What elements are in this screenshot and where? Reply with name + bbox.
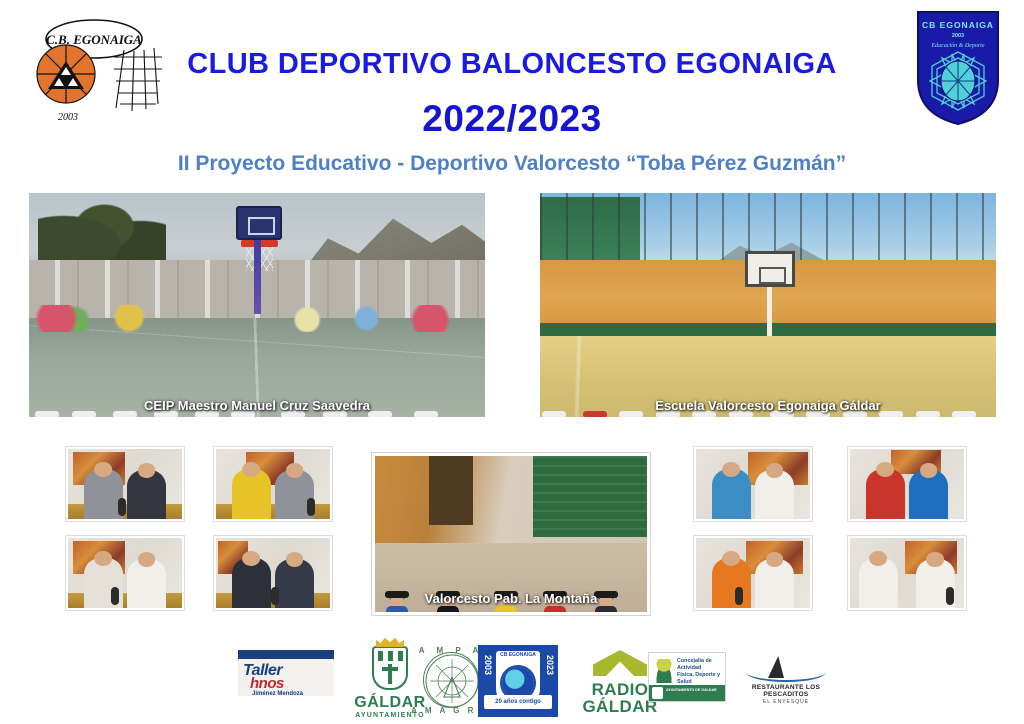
backboard-icon [236, 206, 282, 240]
microphone-icon [111, 587, 119, 605]
checker-band [378, 651, 404, 661]
photo-children-row [540, 289, 996, 412]
photo-ceip[interactable]: CEIP Maestro Manuel Cruz Saavedra [29, 193, 485, 417]
person-figure [859, 558, 898, 608]
crown-icon [376, 637, 404, 647]
person-figure [909, 470, 948, 519]
poster-header: C.B. EGONAIGA 2003 CB EGONAIGA 2003 Educ… [0, 0, 1024, 190]
sponsor-line-2: EL ENYESQUE [736, 699, 836, 705]
anniversary-ribbon: 20 años contigo [484, 695, 552, 709]
poster-canvas: C.B. EGONAIGA 2003 CB EGONAIGA 2003 Educ… [0, 0, 1024, 724]
sponsor-line-1: RESTAURANTE LOS PESCADITOS [736, 684, 836, 698]
sponsor-line-2: hnos [250, 675, 284, 692]
person-figure [755, 559, 794, 608]
microphone-icon [307, 498, 315, 516]
project-subtitle: II Proyecto Educativo - Deportivo Valorc… [0, 152, 1024, 176]
sponsor-badge-text: AYUNTAMIENTO DE GÁLDAR [666, 688, 717, 693]
photo-montana[interactable]: Valorcesto Pab. La Montaña [372, 453, 650, 615]
sponsor-taller-hnos[interactable]: Taller hnos Jiménez Mendoza [238, 638, 334, 724]
anniversary-year-right: 2023 [543, 655, 555, 675]
photo-escuela[interactable]: Escuela Valorcesto Egonaiga Gáldar [540, 193, 996, 417]
radio-photo-6[interactable] [848, 447, 966, 521]
galdar-crest-icon [652, 687, 663, 699]
person-figure [866, 469, 905, 519]
person-figure [275, 559, 314, 608]
svg-text:CB EGONAIGA: CB EGONAIGA [922, 20, 994, 30]
microphone-icon [946, 587, 954, 605]
ampa-circle-icon [423, 652, 479, 708]
fish-fin-wave-icon [746, 656, 826, 682]
svg-text:C.B. EGONAIGA: C.B. EGONAIGA [46, 32, 142, 47]
radio-chevron-icon [593, 650, 647, 676]
radio-photo-1[interactable] [66, 447, 184, 521]
microphone-icon [735, 587, 743, 605]
ampa-glyph [424, 653, 480, 709]
sponsor-strip: Taller hnos Jiménez Mendoza GÁLDAR AYUNT… [0, 638, 1024, 724]
radio-photo-4[interactable] [214, 536, 332, 610]
person-figure [127, 470, 166, 519]
person-figure [232, 469, 271, 519]
radio-photo-2[interactable] [214, 447, 332, 521]
microphone-icon [118, 498, 126, 516]
sponsor-cb-egonaiga-20-aniversario[interactable]: CB EGONAIGA 2003 2023 20 años contigo [478, 638, 558, 724]
anniversary-year-left: 2003 [481, 655, 493, 675]
sponsor-line-3: Jiménez Mendoza [252, 691, 303, 697]
person-figure [84, 469, 123, 519]
photo-boys-row [375, 503, 647, 593]
microphone-icon [271, 587, 279, 605]
page-title: CLUB DEPORTIVO BALONCESTO EGONAIGA [0, 48, 1024, 81]
season-label: 2022/2023 [0, 98, 1024, 140]
svg-text:2003: 2003 [952, 33, 964, 39]
anniversary-ribbon-text: 20 años contigo [484, 695, 552, 709]
sponsor-restaurante-los-pescaditos[interactable]: RESTAURANTE LOS PESCADITOS EL ENYESQUE [736, 638, 836, 724]
radio-photo-8[interactable] [848, 536, 966, 610]
radio-photo-5[interactable] [694, 447, 812, 521]
sponsor-concejalia[interactable]: Concejalía de Actividad Física, Deporte … [648, 638, 726, 724]
backboard-icon [745, 251, 795, 287]
photo-children-row [29, 274, 485, 413]
person-figure [232, 558, 271, 608]
sponsor-line-2: Física, Deporte y Salud [677, 672, 722, 686]
sponsor-line-1: Concejalía de Actividad [677, 658, 722, 672]
radio-photo-3[interactable] [66, 536, 184, 610]
radio-photo-7[interactable] [694, 536, 812, 610]
person-glyph-icon [654, 659, 674, 683]
person-figure [755, 470, 794, 519]
person-figure [712, 469, 751, 519]
person-figure [712, 558, 751, 608]
person-figure [127, 559, 166, 608]
galdar-shield-icon [372, 646, 408, 690]
cross-icon [388, 664, 392, 684]
